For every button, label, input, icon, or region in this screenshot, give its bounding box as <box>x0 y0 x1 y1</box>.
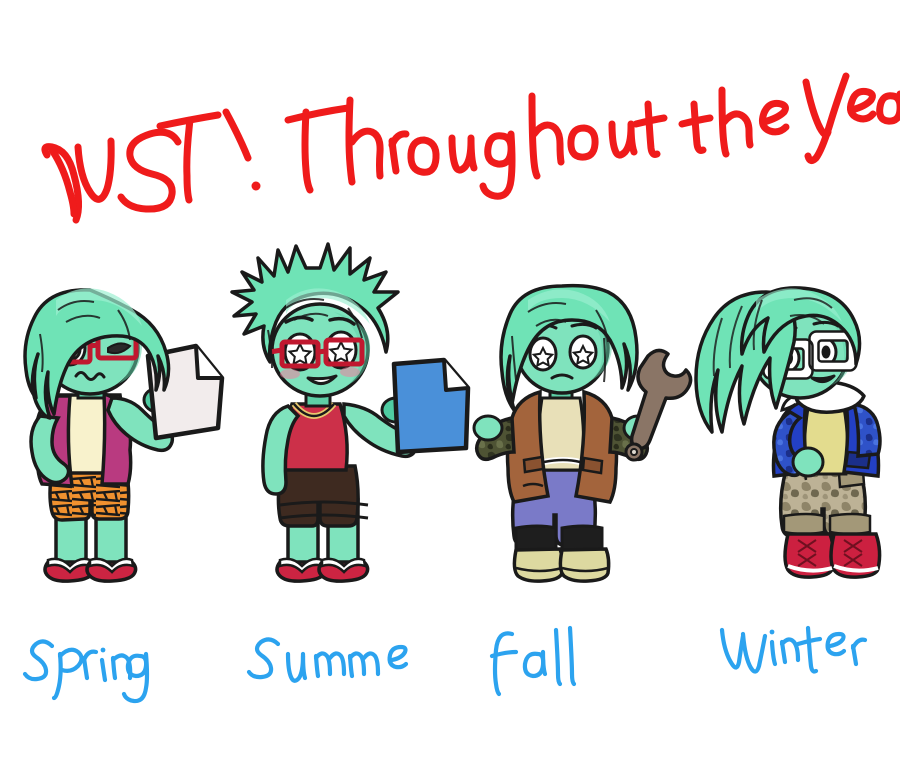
character-winter <box>696 288 880 577</box>
season-label-summer: Summer <box>255 636 395 682</box>
character-fall <box>474 286 691 582</box>
artwork-canvas: DUST! Throughout the Years! Spring Summe… <box>0 0 900 759</box>
season-label-winter: Winter <box>715 625 855 671</box>
page-title: DUST! Throughout the Years! <box>40 92 870 202</box>
season-label-spring: Spring <box>28 640 148 686</box>
character-summer <box>232 244 468 581</box>
summer-paper <box>394 360 468 452</box>
character-spring <box>25 288 222 581</box>
season-label-fall: Fall <box>495 632 595 678</box>
